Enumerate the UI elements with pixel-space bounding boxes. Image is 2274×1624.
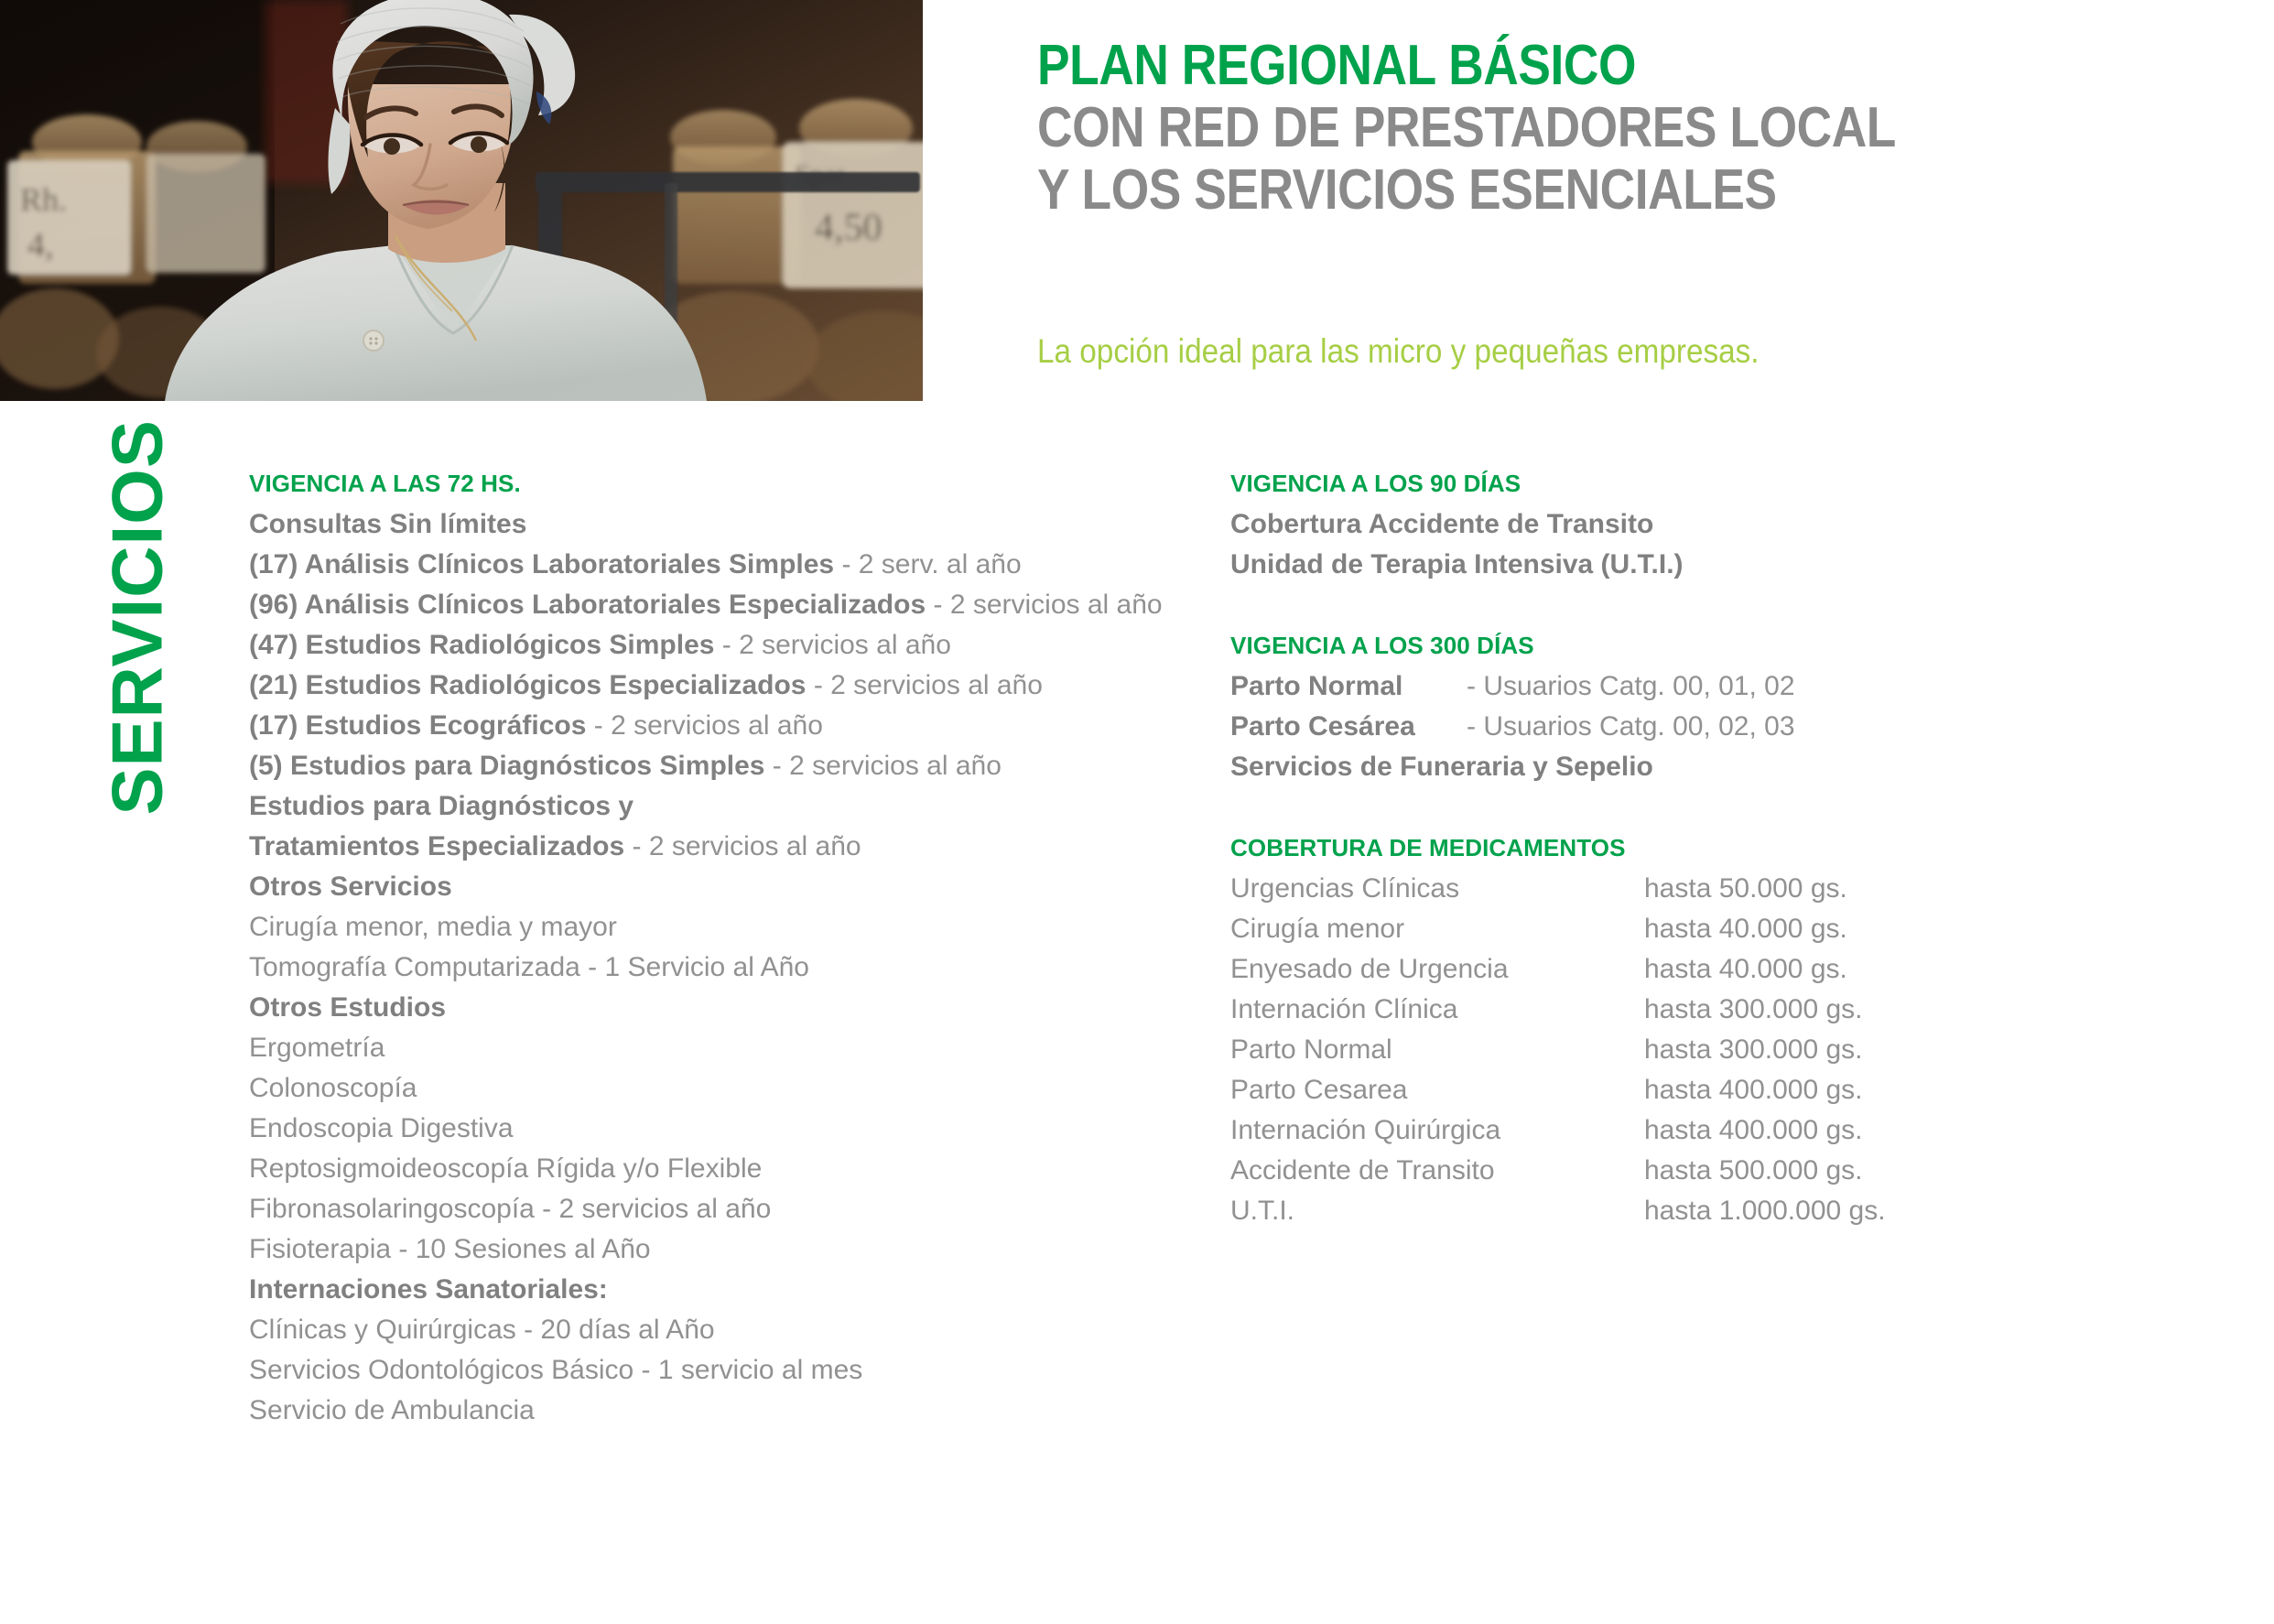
headline-block: PLAN REGIONAL BÁSICO CON RED DE PRESTADO… — [1037, 35, 2246, 222]
row-value: hasta 50.000 gs. — [1644, 869, 1847, 909]
list-item: Servicio de Ambulancia — [249, 1391, 1164, 1431]
row-label: Parto Normal — [1230, 1030, 1644, 1070]
table-row: Accidente de Transito hasta 500.000 gs. — [1230, 1151, 1963, 1191]
services-left-column: VIGENCIA A LAS 72 HS. Consultas Sin lími… — [249, 463, 1164, 1431]
headline-line-1: PLAN REGIONAL BÁSICO — [1037, 35, 2076, 97]
table-row: Enyesado de Urgencia hasta 40.000 gs. — [1230, 949, 1963, 990]
row-value: hasta 400.000 gs. — [1644, 1070, 1863, 1110]
list-item: Fisioterapia - 10 Sesiones al Año — [249, 1229, 1164, 1270]
row-value: hasta 400.000 gs. — [1644, 1110, 1863, 1151]
left-section-heading: VIGENCIA A LAS 72 HS. — [249, 463, 1164, 504]
row-value: hasta 1.000.000 gs. — [1644, 1191, 1886, 1231]
list-item: Consultas Sin límites — [249, 504, 1164, 545]
section-heading-90-dias: VIGENCIA A LOS 90 DÍAS — [1230, 463, 1963, 504]
list-item: Unidad de Terapia Intensiva (U.T.I.) — [1230, 545, 1963, 585]
left-items-list: Consultas Sin límites (17) Análisis Clín… — [249, 504, 1164, 1431]
list-item: Internaciones Sanatoriales: — [249, 1270, 1164, 1310]
hero-photo: Rh. 4, Spar 4,50 — [0, 0, 923, 401]
list-item: Cirugía menor, media y mayor — [249, 907, 1164, 947]
row-label: Urgencias Clínicas — [1230, 869, 1644, 909]
list-item: (21) Estudios Radiológicos Especializado… — [249, 666, 1164, 706]
row-label: Internación Quirúrgica — [1230, 1110, 1644, 1151]
row-value: hasta 40.000 gs. — [1644, 949, 1847, 990]
list-item: Reptosigmoideoscopía Rígida y/o Flexible — [249, 1149, 1164, 1189]
list-item: Estudios para Diagnósticos y — [249, 786, 1164, 827]
list-item: Servicios de Funeraria y Sepelio — [1230, 747, 1963, 787]
row-value: hasta 40.000 gs. — [1644, 909, 1847, 949]
list-item: Otros Estudios — [249, 988, 1164, 1028]
row-value: hasta 300.000 gs. — [1644, 990, 1863, 1030]
table-row: Parto Normal - Usuarios Catg. 00, 01, 02 — [1230, 666, 1963, 707]
list-item: (96) Análisis Clínicos Laboratoriales Es… — [249, 585, 1164, 625]
list-item: (17) Estudios Ecográficos - 2 servicios … — [249, 706, 1164, 746]
section-spacer — [1230, 787, 1963, 828]
row-label: Parto Normal — [1230, 666, 1467, 707]
table-row: U.T.I. hasta 1.000.000 gs. — [1230, 1191, 1963, 1231]
section-heading-300-dias: VIGENCIA A LOS 300 DÍAS — [1230, 625, 1963, 666]
table-row: Parto Cesárea - Usuarios Catg. 00, 02, 0… — [1230, 707, 1963, 747]
table-row: Urgencias Clínicas hasta 50.000 gs. — [1230, 869, 1963, 909]
headline-line-2: CON RED DE PRESTADORES LOCAL — [1037, 97, 2076, 159]
list-item: Clínicas y Quirúrgicas - 20 días al Año — [249, 1310, 1164, 1350]
list-item: (5) Estudios para Diagnósticos Simples -… — [249, 746, 1164, 786]
row-label: Parto Cesarea — [1230, 1070, 1644, 1110]
table-row: Parto Normal hasta 300.000 gs. — [1230, 1030, 1963, 1070]
servicios-vertical-label: SERVICIOS — [96, 431, 179, 816]
row-value: - Usuarios Catg. 00, 02, 03 — [1467, 707, 1795, 747]
list-item: Colonoscopía — [249, 1068, 1164, 1109]
row-value: - Usuarios Catg. 00, 01, 02 — [1467, 666, 1795, 707]
section-spacer — [1230, 585, 1963, 625]
list-item: (47) Estudios Radiológicos Simples - 2 s… — [249, 625, 1164, 666]
market-woman-illustration: Rh. 4, Spar 4,50 — [0, 0, 923, 401]
list-item: Tomografía Computarizada - 1 Servicio al… — [249, 947, 1164, 988]
list-item: Fibronasolaringoscopía - 2 servicios al … — [249, 1189, 1164, 1229]
list-item: Tratamientos Especializados - 2 servicio… — [249, 827, 1164, 867]
row-label: Cirugía menor — [1230, 909, 1644, 949]
row-label: Internación Clínica — [1230, 990, 1644, 1030]
list-item: Endoscopia Digestiva — [249, 1109, 1164, 1149]
table-row: Internación Quirúrgica hasta 400.000 gs. — [1230, 1110, 1963, 1151]
services-right-column: VIGENCIA A LOS 90 DÍAS Cobertura Acciden… — [1230, 463, 1963, 1231]
tagline: La opción ideal para las micro y pequeña… — [1037, 331, 1760, 372]
section-heading-medicamentos: COBERTURA DE MEDICAMENTOS — [1230, 828, 1963, 869]
headline-line-3: Y LOS SERVICIOS ESENCIALES — [1037, 159, 2076, 222]
list-item: Cobertura Accidente de Transito — [1230, 504, 1963, 545]
list-item: Servicios Odontológicos Básico - 1 servi… — [249, 1350, 1164, 1391]
list-item: Otros Servicios — [249, 867, 1164, 907]
row-label: Parto Cesárea — [1230, 707, 1467, 747]
row-label: Accidente de Transito — [1230, 1151, 1644, 1191]
table-row: Parto Cesarea hasta 400.000 gs. — [1230, 1070, 1963, 1110]
row-label: Enyesado de Urgencia — [1230, 949, 1644, 990]
row-value: hasta 300.000 gs. — [1644, 1030, 1863, 1070]
table-row: Cirugía menor hasta 40.000 gs. — [1230, 909, 1963, 949]
row-value: hasta 500.000 gs. — [1644, 1151, 1863, 1191]
table-row: Internación Clínica hasta 300.000 gs. — [1230, 990, 1963, 1030]
list-item: Ergometría — [249, 1028, 1164, 1068]
list-item: (17) Análisis Clínicos Laboratoriales Si… — [249, 545, 1164, 585]
row-label: U.T.I. — [1230, 1191, 1644, 1231]
